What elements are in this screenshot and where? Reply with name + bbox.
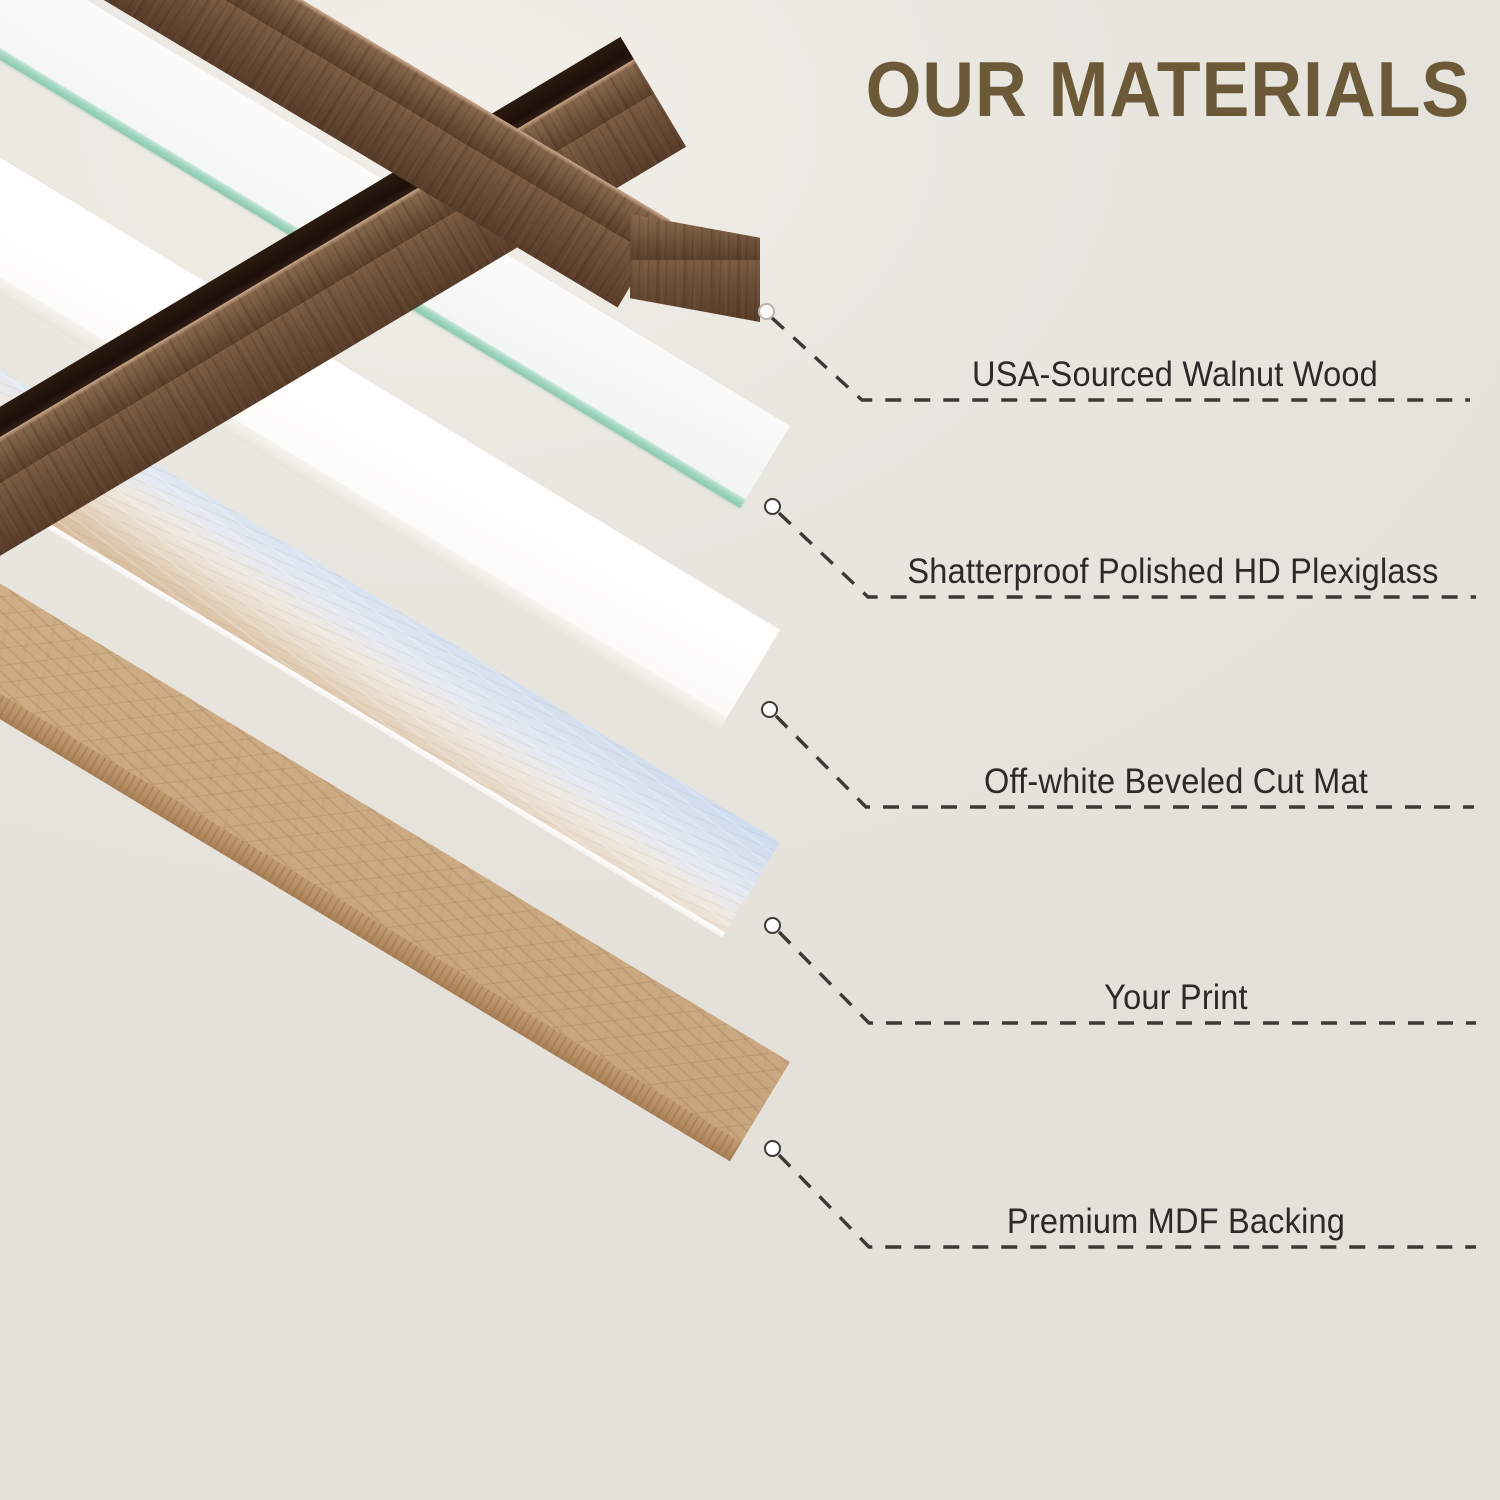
marker-walnut-wood[interactable] [758,303,775,320]
marker-mdf-backing[interactable] [764,1140,781,1157]
marker-cut-mat[interactable] [761,701,778,718]
callout-label-walnut-wood: USA-Sourced Walnut Wood [901,355,1450,395]
wood-grain-texture [630,260,760,322]
frame-corner-top [630,214,760,260]
callout-label-your-print: Your Print [901,978,1452,1018]
marker-plexiglass[interactable] [764,498,781,515]
callout-label-plexiglass: Shatterproof Polished HD Plexiglass [887,552,1458,592]
marker-your-print[interactable] [764,917,781,934]
page-title: OUR MATERIALS [865,44,1470,135]
wood-grain-texture [630,214,760,260]
callout-label-cut-mat: Off-white Beveled Cut Mat [901,762,1452,802]
frame-corner-miter [630,214,760,322]
frame-corner-side [630,260,760,322]
materials-infographic: OUR MATERIALS [0,0,1500,1500]
callout-label-mdf-backing: Premium MDF Backing [901,1202,1452,1242]
